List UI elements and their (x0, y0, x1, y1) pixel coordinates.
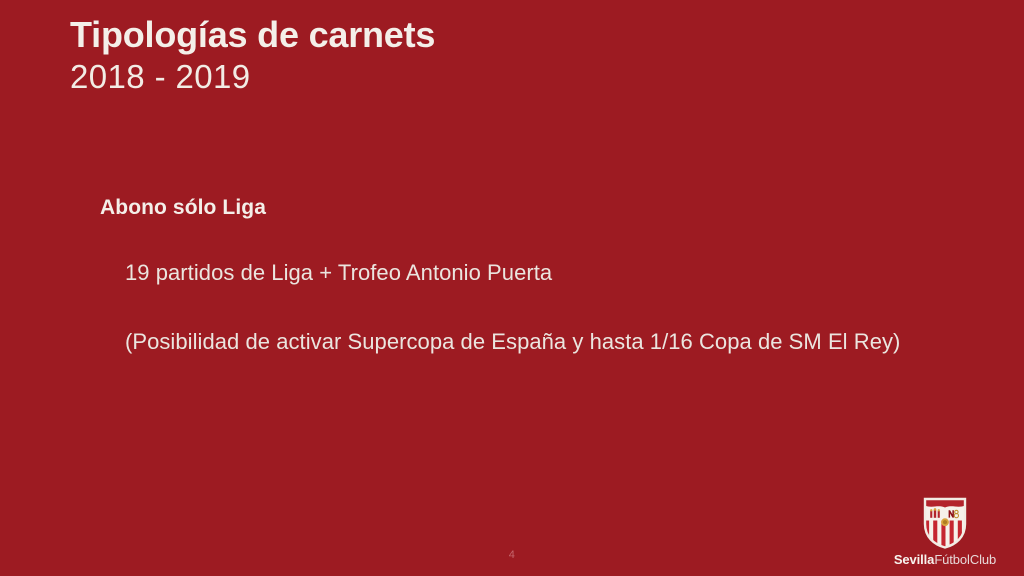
logo-wordmark: SevillaFútbolClub (884, 553, 1006, 566)
slide-canvas: Tipologías de carnets 2018 - 2019 Abono … (0, 0, 1024, 576)
sevilla-fc-crest-icon (922, 496, 968, 550)
logo-wordmark-light: FútbolClub (934, 552, 996, 567)
section-heading-abono-solo-liga: Abono sólo Liga (100, 196, 940, 220)
title-block: Tipologías de carnets 2018 - 2019 (70, 14, 435, 96)
sevilla-fc-logo: SevillaFútbolClub (884, 496, 1006, 566)
body-content: Abono sólo Liga 19 partidos de Liga + Tr… (100, 196, 940, 359)
page-title: Tipologías de carnets (70, 14, 435, 56)
logo-wordmark-bold: Sevilla (894, 552, 935, 567)
page-subtitle: 2018 - 2019 (70, 58, 435, 96)
page-number: 4 (0, 549, 1024, 561)
bullet-item-matches: 19 partidos de Liga + Trofeo Antonio Pue… (125, 256, 940, 289)
bullet-group: 19 partidos de Liga + Trofeo Antonio Pue… (100, 256, 940, 359)
bullet-item-note: (Posibilidad de activar Supercopa de Esp… (125, 325, 935, 358)
